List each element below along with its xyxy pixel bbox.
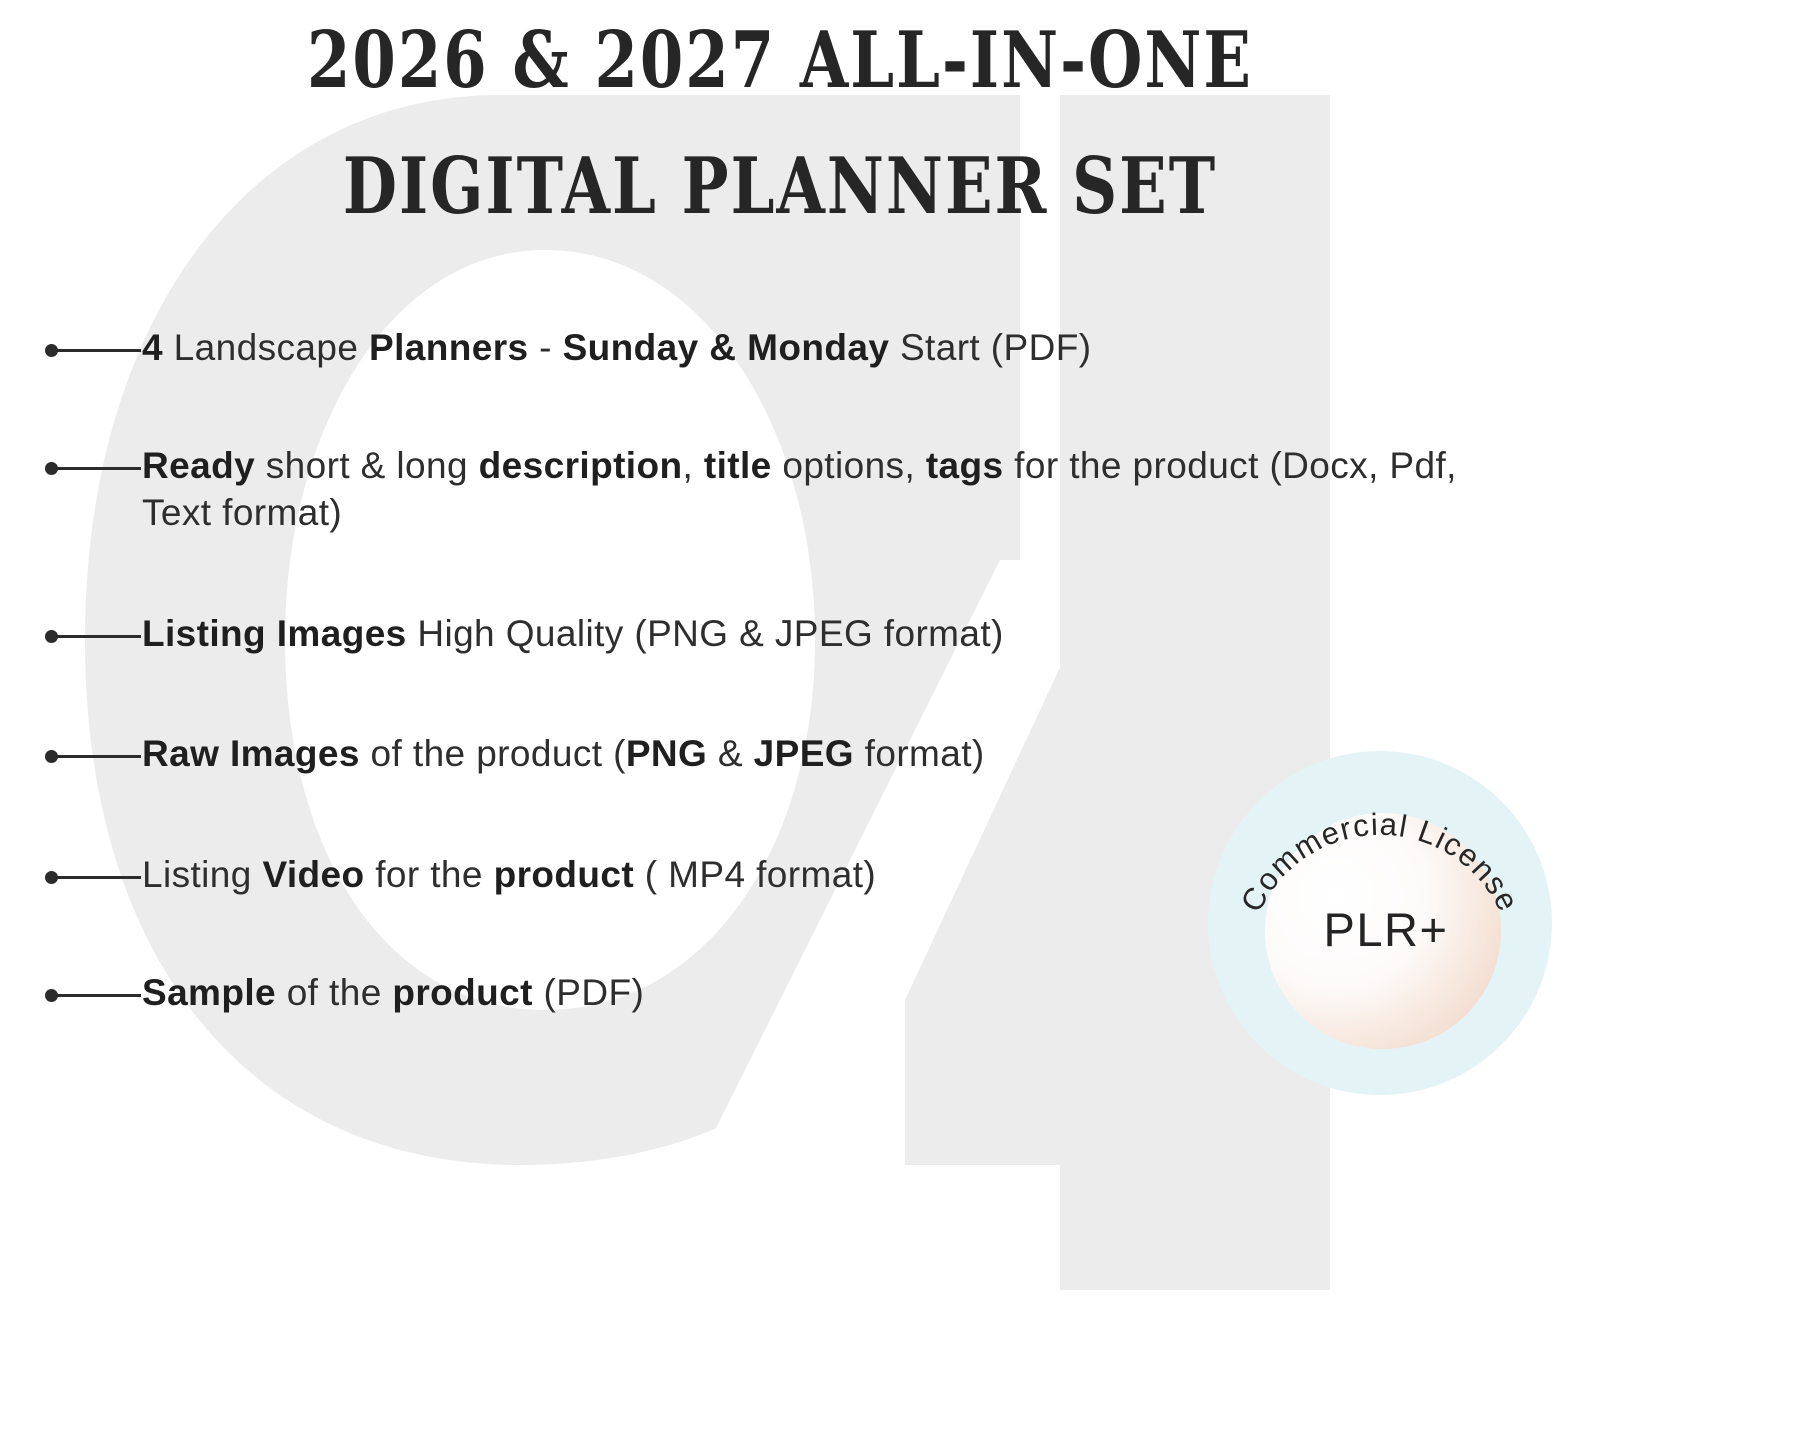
- bullet-dash-icon: [0, 741, 142, 771]
- commercial-license-badge: Commercial License PLR+: [1205, 748, 1555, 1098]
- bullet-dash-icon: [0, 453, 142, 483]
- promo-graphic-page: 2026 & 2027 ALL-IN-ONE DIGITAL PLANNER S…: [0, 0, 1800, 1431]
- bullet-dash-icon: [0, 335, 142, 365]
- list-item: 4 Landscape Planners - Sunday & Monday S…: [0, 324, 1560, 384]
- page-title: 2026 & 2027 ALL-IN-ONE DIGITAL PLANNER S…: [0, 22, 1560, 226]
- feature-text-listing-images: Listing Images High Quality (PNG & JPEG …: [142, 610, 1560, 657]
- feature-text-descriptions: Ready short & long description, title op…: [142, 442, 1560, 537]
- title-line-2: DIGITAL PLANNER SET: [156, 148, 1404, 226]
- feature-text-planners: 4 Landscape Planners - Sunday & Monday S…: [142, 324, 1560, 371]
- bullet-dash-icon: [0, 862, 142, 892]
- list-item: Listing Images High Quality (PNG & JPEG …: [0, 610, 1560, 670]
- bullet-dash-icon: [0, 980, 142, 1010]
- bullet-dash-icon: [0, 621, 142, 651]
- list-item: Ready short & long description, title op…: [0, 442, 1560, 537]
- title-line-1: 2026 & 2027 ALL-IN-ONE: [156, 22, 1404, 100]
